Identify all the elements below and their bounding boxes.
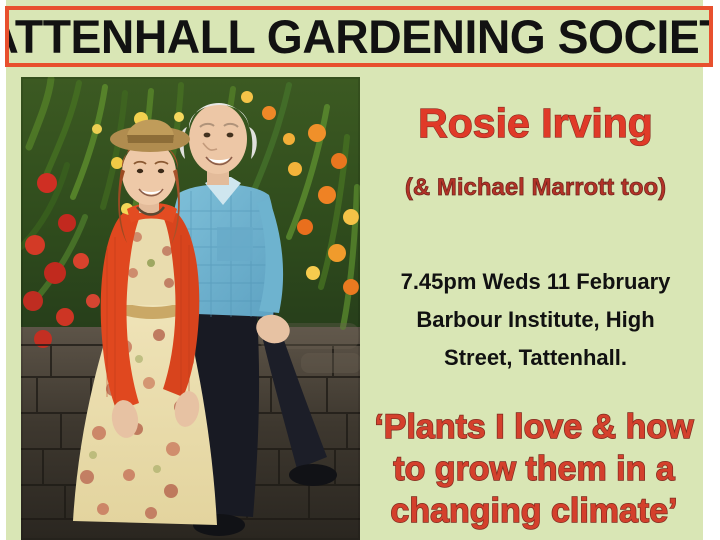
speaker-photo-image (21, 77, 360, 540)
speaker-subtitle: (& Michael Marrott too) (368, 174, 703, 201)
event-details: 7.45pm Weds 11 February Barbour Institut… (368, 263, 703, 377)
event-venue-line-1: Barbour Institute, High (368, 301, 703, 339)
event-venue-line-2: Street, Tattenhall. (368, 339, 703, 377)
speaker-name: Rosie Irving (368, 101, 703, 145)
talk-title: ‘Plants I love & how to grow them in a c… (364, 406, 704, 532)
talk-title-line-3: changing climate’ (364, 490, 704, 532)
page-title: TATTENHALL GARDENING SOCIETY (5, 13, 713, 60)
poster-slide: TATTENHALL GARDENING SOCIETY (0, 0, 720, 540)
talk-title-line-2: to grow them in a (364, 448, 704, 490)
event-datetime: 7.45pm Weds 11 February (368, 263, 703, 301)
society-title-banner: TATTENHALL GARDENING SOCIETY (5, 6, 713, 67)
speaker-photo (21, 77, 360, 540)
talk-title-line-1: ‘Plants I love & how (364, 406, 704, 448)
event-details-column: Rosie Irving (& Michael Marrott too) 7.4… (368, 77, 703, 540)
